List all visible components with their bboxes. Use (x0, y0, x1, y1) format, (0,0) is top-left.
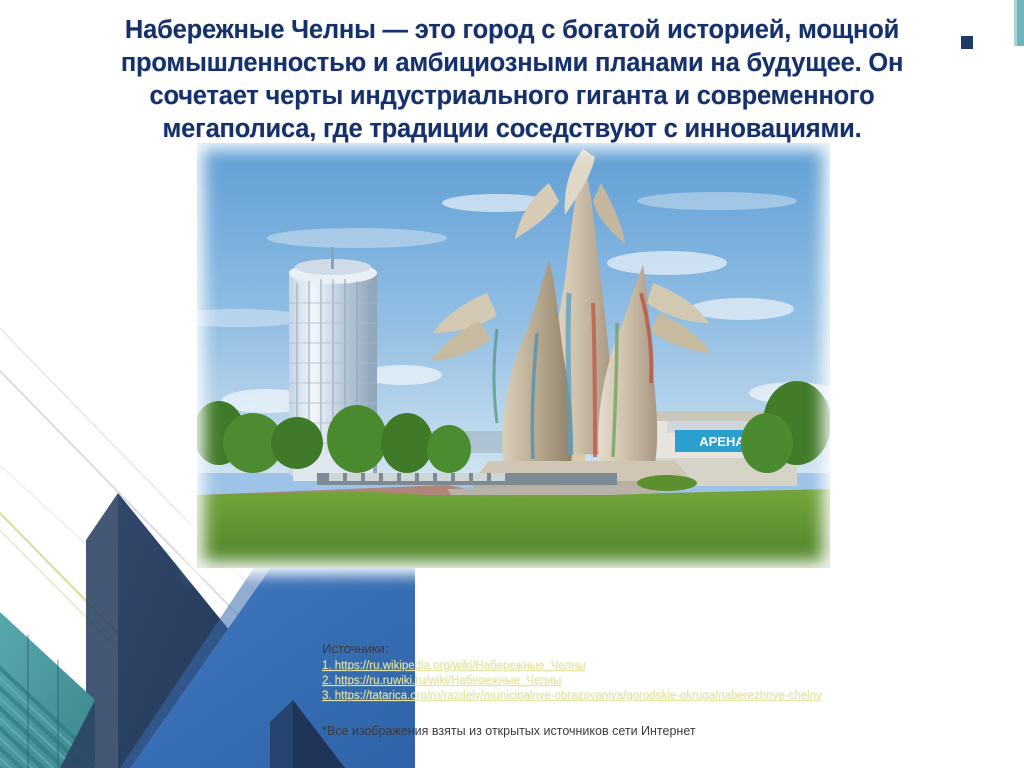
page-title: Набережные Челны — это город с богатой и… (42, 14, 982, 146)
city-photo: АРЕНА (197, 143, 830, 568)
svg-text:АРЕНА: АРЕНА (699, 434, 745, 449)
slide-title-block: Набережные Челны — это город с богатой и… (42, 14, 982, 146)
teal-building-graphic (0, 600, 130, 768)
source-link-3[interactable]: 3. https://tatarica.org/ru/razdely/munic… (322, 689, 822, 704)
sources-block: Источники: 1. https://ru.wikipedia.org/w… (322, 641, 822, 704)
footnote-text: *Все изображения взяты из открытых источ… (322, 723, 696, 739)
source-link-2[interactable]: 2. https://ru.ruwiki.ru/wiki/Набережные_… (322, 674, 822, 689)
source-link-1[interactable]: 1. https://ru.wikipedia.org/wiki/Набереж… (322, 659, 822, 674)
slide-canvas: Набережные Челны — это город с богатой и… (0, 0, 1024, 768)
sources-heading: Источники: (322, 641, 822, 657)
city-photo-inner: АРЕНА (197, 143, 830, 568)
